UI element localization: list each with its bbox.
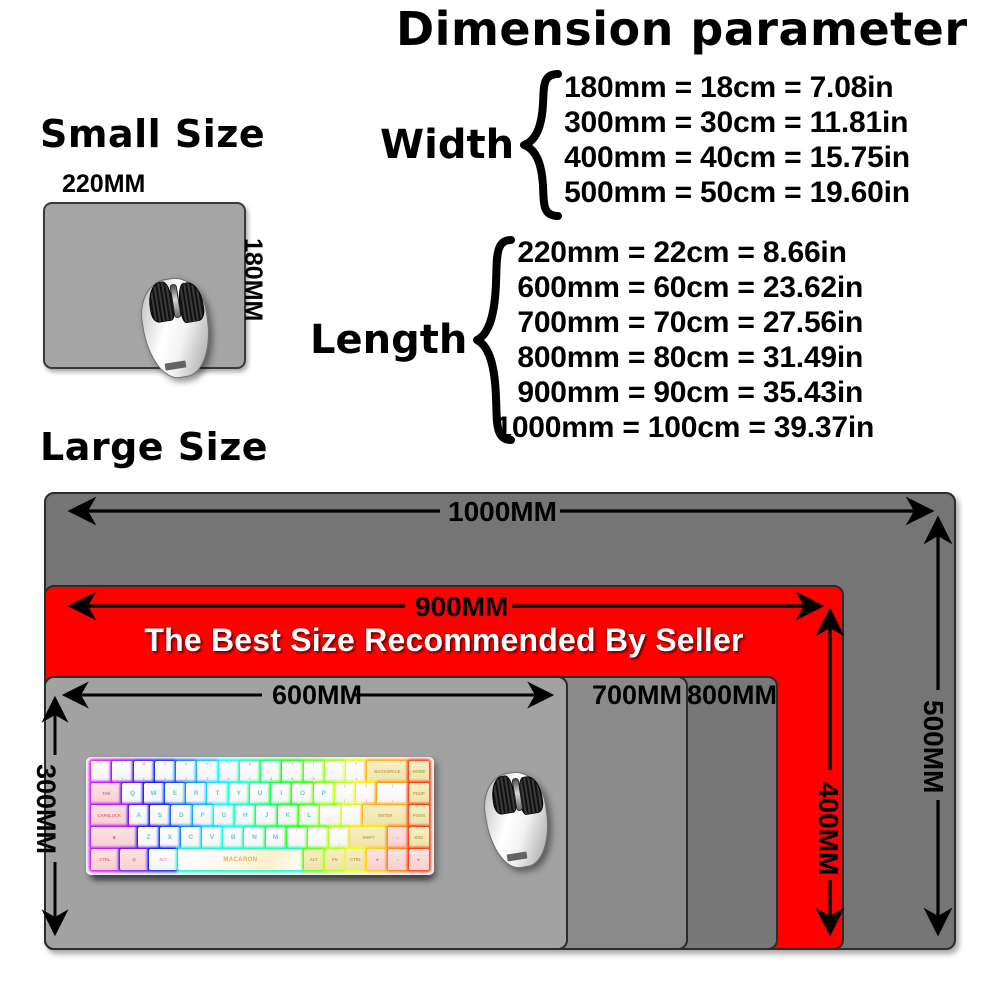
- dimension-label-900mm: 900MM: [415, 591, 508, 623]
- key-legend-shift: (: [282, 762, 302, 766]
- key-legend-shift: ^: [219, 762, 239, 766]
- key-legend-shift: !: [112, 762, 132, 766]
- dimension-label-1000mm: 1000MM: [448, 496, 557, 528]
- keyboard-key[interactable]: C: [181, 827, 201, 848]
- recommendation-banner: The Best Size Recommended By Seller: [44, 622, 844, 659]
- keyboard-key[interactable]: ~`: [91, 761, 111, 782]
- key-legend-shift: {: [335, 784, 355, 788]
- key-legend-main: `: [91, 777, 111, 781]
- key-legend-main: ': [342, 821, 362, 825]
- keyboard-row: TABQWERTYUIOP{[}]|\PGUP: [91, 783, 429, 804]
- dimension-label-400mm: 400MM: [812, 782, 844, 875]
- keyboard-key[interactable]: TAB: [91, 783, 121, 804]
- keyboard-key[interactable]: S: [150, 805, 170, 826]
- keyboard-row: ~`!1@2#3$4%5^6&7*8(9)0_-+=BACKSPACEHOME: [91, 761, 429, 782]
- key-legend-main: -: [325, 777, 345, 781]
- key-legend-main: ;: [320, 821, 340, 825]
- key-legend-shift: ": [342, 806, 362, 810]
- keyboard-key[interactable]: SHIFT: [350, 827, 386, 848]
- key-legend-main: ,: [287, 843, 307, 847]
- keyboard-key[interactable]: ☼: [388, 849, 408, 870]
- key-legend-shift: *: [261, 762, 281, 766]
- keyboard-key[interactable]: T: [207, 783, 227, 804]
- keyboard-key[interactable]: Y: [229, 783, 249, 804]
- key-legend-shift: &: [240, 762, 260, 766]
- keyboard-key[interactable]: |\: [377, 783, 407, 804]
- key-legend-shift: <: [287, 828, 307, 832]
- keyboard-key[interactable]: N: [244, 827, 264, 848]
- key-legend-shift: |: [377, 784, 407, 788]
- keyboard-row: CAPSLOCKASDFGHJKL:;"'ENTERPGDN: [91, 805, 429, 826]
- key-legend-shift: ~: [91, 762, 111, 766]
- keyboard-key[interactable]: O: [292, 783, 312, 804]
- keyboard-key[interactable]: >.: [308, 827, 328, 848]
- keyboard-key[interactable]: MACARON: [178, 849, 302, 870]
- keyboard-key[interactable]: J: [256, 805, 276, 826]
- key-legend-shift: $: [176, 762, 196, 766]
- keyboard-key[interactable]: }]: [356, 783, 376, 804]
- key-legend-main: 1: [112, 777, 132, 781]
- keyboard-key[interactable]: ?/: [329, 827, 349, 848]
- key-legend-main: 7: [240, 777, 260, 781]
- key-legend-main: =: [346, 777, 366, 781]
- large-mousepad-group: ~`!1@2#3$4%5^6&7*8(9)0_-+=BACKSPACEHOMET…: [0, 0, 1000, 1000]
- keyboard-key[interactable]: ALT: [304, 849, 324, 870]
- keyboard-key[interactable]: FN: [325, 849, 345, 870]
- keyboard-key[interactable]: {[: [335, 783, 355, 804]
- keyboard-key[interactable]: PGDN: [409, 805, 429, 826]
- dimension-label-600mm: 600MM: [272, 680, 362, 711]
- key-legend-shift: ?: [329, 828, 349, 832]
- keyboard-key[interactable]: D: [171, 805, 191, 826]
- key-legend-main: /: [329, 843, 349, 847]
- mouse-graphic: [486, 772, 548, 868]
- keyboard-key[interactable]: PGUP: [409, 783, 429, 804]
- keyboard-key[interactable]: V: [202, 827, 222, 848]
- keyboard-key[interactable]: ☼: [388, 827, 408, 848]
- keyboard-row: ♛ZXCVBNM<,>.?/SHIFT☼END: [91, 827, 429, 848]
- keyboard-key[interactable]: @2: [134, 761, 154, 782]
- key-legend-main: ]: [356, 799, 376, 803]
- key-legend-main: 4: [176, 777, 196, 781]
- keyboard-key[interactable]: ALT: [149, 849, 177, 870]
- keyboard-key[interactable]: W: [144, 783, 164, 804]
- keyboard-key[interactable]: M: [266, 827, 286, 848]
- keyboard-key[interactable]: F: [193, 805, 213, 826]
- dimension-label-500mm: 500MM: [917, 700, 949, 793]
- keyboard-key[interactable]: :;: [320, 805, 340, 826]
- key-legend-main: 9: [282, 777, 302, 781]
- key-legend-main: 3: [155, 777, 175, 781]
- keyboard-key[interactable]: ^6: [219, 761, 239, 782]
- keyboard-key[interactable]: H: [235, 805, 255, 826]
- keyboard-key[interactable]: _-: [325, 761, 345, 782]
- keyboard-key[interactable]: R: [186, 783, 206, 804]
- key-legend-shift: _: [325, 762, 345, 766]
- keyboard-key[interactable]: CTRL: [346, 849, 366, 870]
- key-legend-shift: #: [155, 762, 175, 766]
- keyboard-key[interactable]: U: [250, 783, 270, 804]
- keyboard-key[interactable]: A: [129, 805, 149, 826]
- key-legend-main: .: [308, 843, 328, 847]
- keyboard-key[interactable]: Q: [122, 783, 142, 804]
- keyboard-key[interactable]: CAPSLOCK: [91, 805, 128, 826]
- keyboard-key[interactable]: "': [342, 805, 362, 826]
- dimension-label-700mm: 700MM: [592, 680, 682, 711]
- key-legend-shift: ): [304, 762, 324, 766]
- keyboard-key[interactable]: P: [314, 783, 334, 804]
- key-legend-shift: >: [308, 828, 328, 832]
- keyboard-key[interactable]: BACKSPACE: [367, 761, 408, 782]
- key-legend-main: 8: [261, 777, 281, 781]
- keyboard-key[interactable]: CTRL: [91, 849, 119, 870]
- dimension-label-300mm: 300MM: [30, 764, 61, 854]
- keyboard-key[interactable]: #3: [155, 761, 175, 782]
- keyboard-key[interactable]: E: [165, 783, 185, 804]
- keyboard-key[interactable]: END: [409, 827, 429, 848]
- keyboard-key[interactable]: ◄: [367, 849, 387, 870]
- key-legend-main: \: [377, 799, 407, 803]
- poster-canvas: Dimension parameter Width 180mm = 18cm =…: [0, 0, 1000, 1000]
- keyboard-key[interactable]: (9: [282, 761, 302, 782]
- keyboard-key[interactable]: $4: [176, 761, 196, 782]
- keyboard-key[interactable]: <,: [287, 827, 307, 848]
- keyboard-key[interactable]: @: [120, 849, 148, 870]
- keyboard-key[interactable]: ENTER: [363, 805, 408, 826]
- keyboard-key[interactable]: &7: [240, 761, 260, 782]
- keyboard-key[interactable]: B: [223, 827, 243, 848]
- key-legend-main: 6: [219, 777, 239, 781]
- dimension-label-800mm: 800MM: [687, 680, 777, 711]
- keyboard-graphic: ~`!1@2#3$4%5^6&7*8(9)0_-+=BACKSPACEHOMET…: [86, 757, 434, 875]
- keyboard-key[interactable]: K: [278, 805, 298, 826]
- key-legend-main: [: [335, 799, 355, 803]
- key-legend-shift: +: [346, 762, 366, 766]
- key-legend-shift: %: [197, 762, 217, 766]
- keyboard-key[interactable]: HOME: [409, 761, 429, 782]
- keyboard-row: CTRL@ALTMACARONALTFNCTRL◄☼►: [91, 849, 429, 870]
- key-legend-shift: :: [320, 806, 340, 810]
- keyboard-key[interactable]: X: [160, 827, 180, 848]
- key-legend-shift: }: [356, 784, 376, 788]
- key-legend-main: 5: [197, 777, 217, 781]
- keyboard-key[interactable]: +=: [346, 761, 366, 782]
- keyboard-key[interactable]: %5: [197, 761, 217, 782]
- keyboard-key[interactable]: G: [214, 805, 234, 826]
- keyboard-key[interactable]: ♛: [91, 827, 137, 848]
- keyboard-key[interactable]: L: [299, 805, 319, 826]
- key-legend-main: 2: [134, 777, 154, 781]
- key-legend-main: 0: [304, 777, 324, 781]
- keyboard-key[interactable]: !1: [112, 761, 132, 782]
- keyboard-key[interactable]: I: [271, 783, 291, 804]
- keyboard-key[interactable]: ►: [409, 849, 429, 870]
- key-legend-shift: @: [134, 762, 154, 766]
- keyboard-key[interactable]: )0: [304, 761, 324, 782]
- keyboard-key[interactable]: *8: [261, 761, 281, 782]
- keyboard-key[interactable]: Z: [138, 827, 158, 848]
